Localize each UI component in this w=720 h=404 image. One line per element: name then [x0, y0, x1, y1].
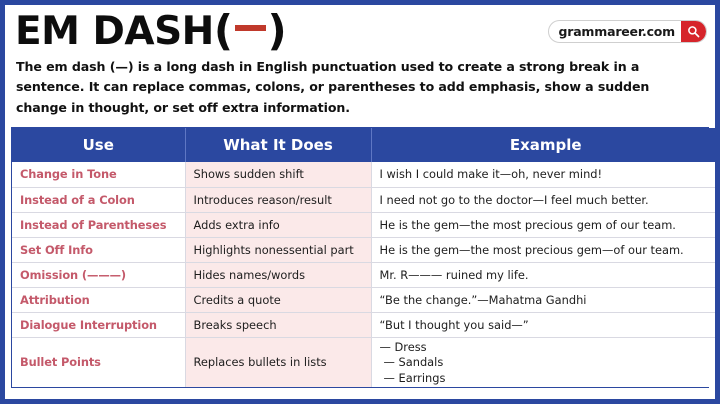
table-row: Instead of Parentheses Adds extra info H…	[12, 212, 715, 237]
cell-example-bullet-list: — Dress — Sandals — Earrings	[371, 337, 715, 387]
em-dash-glyph-icon	[235, 25, 266, 31]
column-header-use: Use	[12, 128, 185, 162]
cell-use: Instead of Parentheses	[12, 212, 185, 237]
intro-paragraph: The em dash (—) is a long dash in Englis…	[5, 57, 715, 118]
cell-example: He is the gem—the most precious gem of o…	[371, 212, 715, 237]
cell-use: Instead of a Colon	[12, 187, 185, 212]
table-row: Set Off Info Highlights nonessential par…	[12, 237, 715, 262]
site-logo-badge[interactable]: grammareer.com	[548, 20, 707, 43]
cell-use: Dialogue Interruption	[12, 312, 185, 337]
search-icon[interactable]	[681, 20, 706, 43]
cell-use: Attribution	[12, 287, 185, 312]
cell-use: Bullet Points	[12, 337, 185, 387]
list-item: — Earrings	[380, 371, 713, 387]
page-content: EM DASH ( ) grammareer.com The em dash (…	[5, 5, 715, 399]
table-header-row: Use What It Does Example	[12, 128, 715, 162]
table-row: Instead of a Colon Introduces reason/res…	[12, 187, 715, 212]
cell-use: Omission (———)	[12, 262, 185, 287]
cell-example: He is the gem—the most precious gem—of o…	[371, 237, 715, 262]
table-row: Attribution Credits a quote “Be the chan…	[12, 287, 715, 312]
header: EM DASH ( ) grammareer.com	[5, 5, 715, 57]
cell-example: “Be the change.”—Mahatma Gandhi	[371, 287, 715, 312]
cell-what-it-does: Highlights nonessential part	[185, 237, 371, 262]
cell-use: Set Off Info	[12, 237, 185, 262]
list-item: — Dress	[380, 340, 713, 356]
list-item: — Sandals	[380, 355, 713, 371]
table-row: Change in Tone Shows sudden shift I wish…	[12, 162, 715, 187]
cell-example: I need not go to the doctor—I feel much …	[371, 187, 715, 212]
cell-example: Mr. R——— ruined my life.	[371, 262, 715, 287]
bullet-list: — Dress — Sandals — Earrings	[380, 340, 713, 387]
cell-use: Change in Tone	[12, 162, 185, 187]
cell-what-it-does: Credits a quote	[185, 287, 371, 312]
page-title-main: EM DASH	[15, 12, 214, 51]
page-title: EM DASH ( )	[15, 10, 286, 52]
em-dash-usage-table: Use What It Does Example Change in Tone …	[11, 127, 709, 388]
cell-example: “But I thought you said—”	[371, 312, 715, 337]
cell-what-it-does: Hides names/words	[185, 262, 371, 287]
page-title-close-paren: )	[268, 10, 287, 52]
cell-what-it-does: Introduces reason/result	[185, 187, 371, 212]
site-logo-label: grammareer.com	[558, 24, 681, 39]
cell-what-it-does: Shows sudden shift	[185, 162, 371, 187]
cell-what-it-does: Adds extra info	[185, 212, 371, 237]
page-title-open-paren: (	[214, 10, 233, 52]
table-row-bullet-points: Bullet Points Replaces bullets in lists …	[12, 337, 715, 387]
cell-example: I wish I could make it—oh, never mind!	[371, 162, 715, 187]
cell-what-it-does: Replaces bullets in lists	[185, 337, 371, 387]
table-row: Dialogue Interruption Breaks speech “But…	[12, 312, 715, 337]
column-header-what-it-does: What It Does	[185, 128, 371, 162]
page-frame: EM DASH ( ) grammareer.com The em dash (…	[0, 0, 720, 404]
table-row: Omission (———) Hides names/words Mr. R——…	[12, 262, 715, 287]
column-header-example: Example	[371, 128, 715, 162]
cell-what-it-does: Breaks speech	[185, 312, 371, 337]
